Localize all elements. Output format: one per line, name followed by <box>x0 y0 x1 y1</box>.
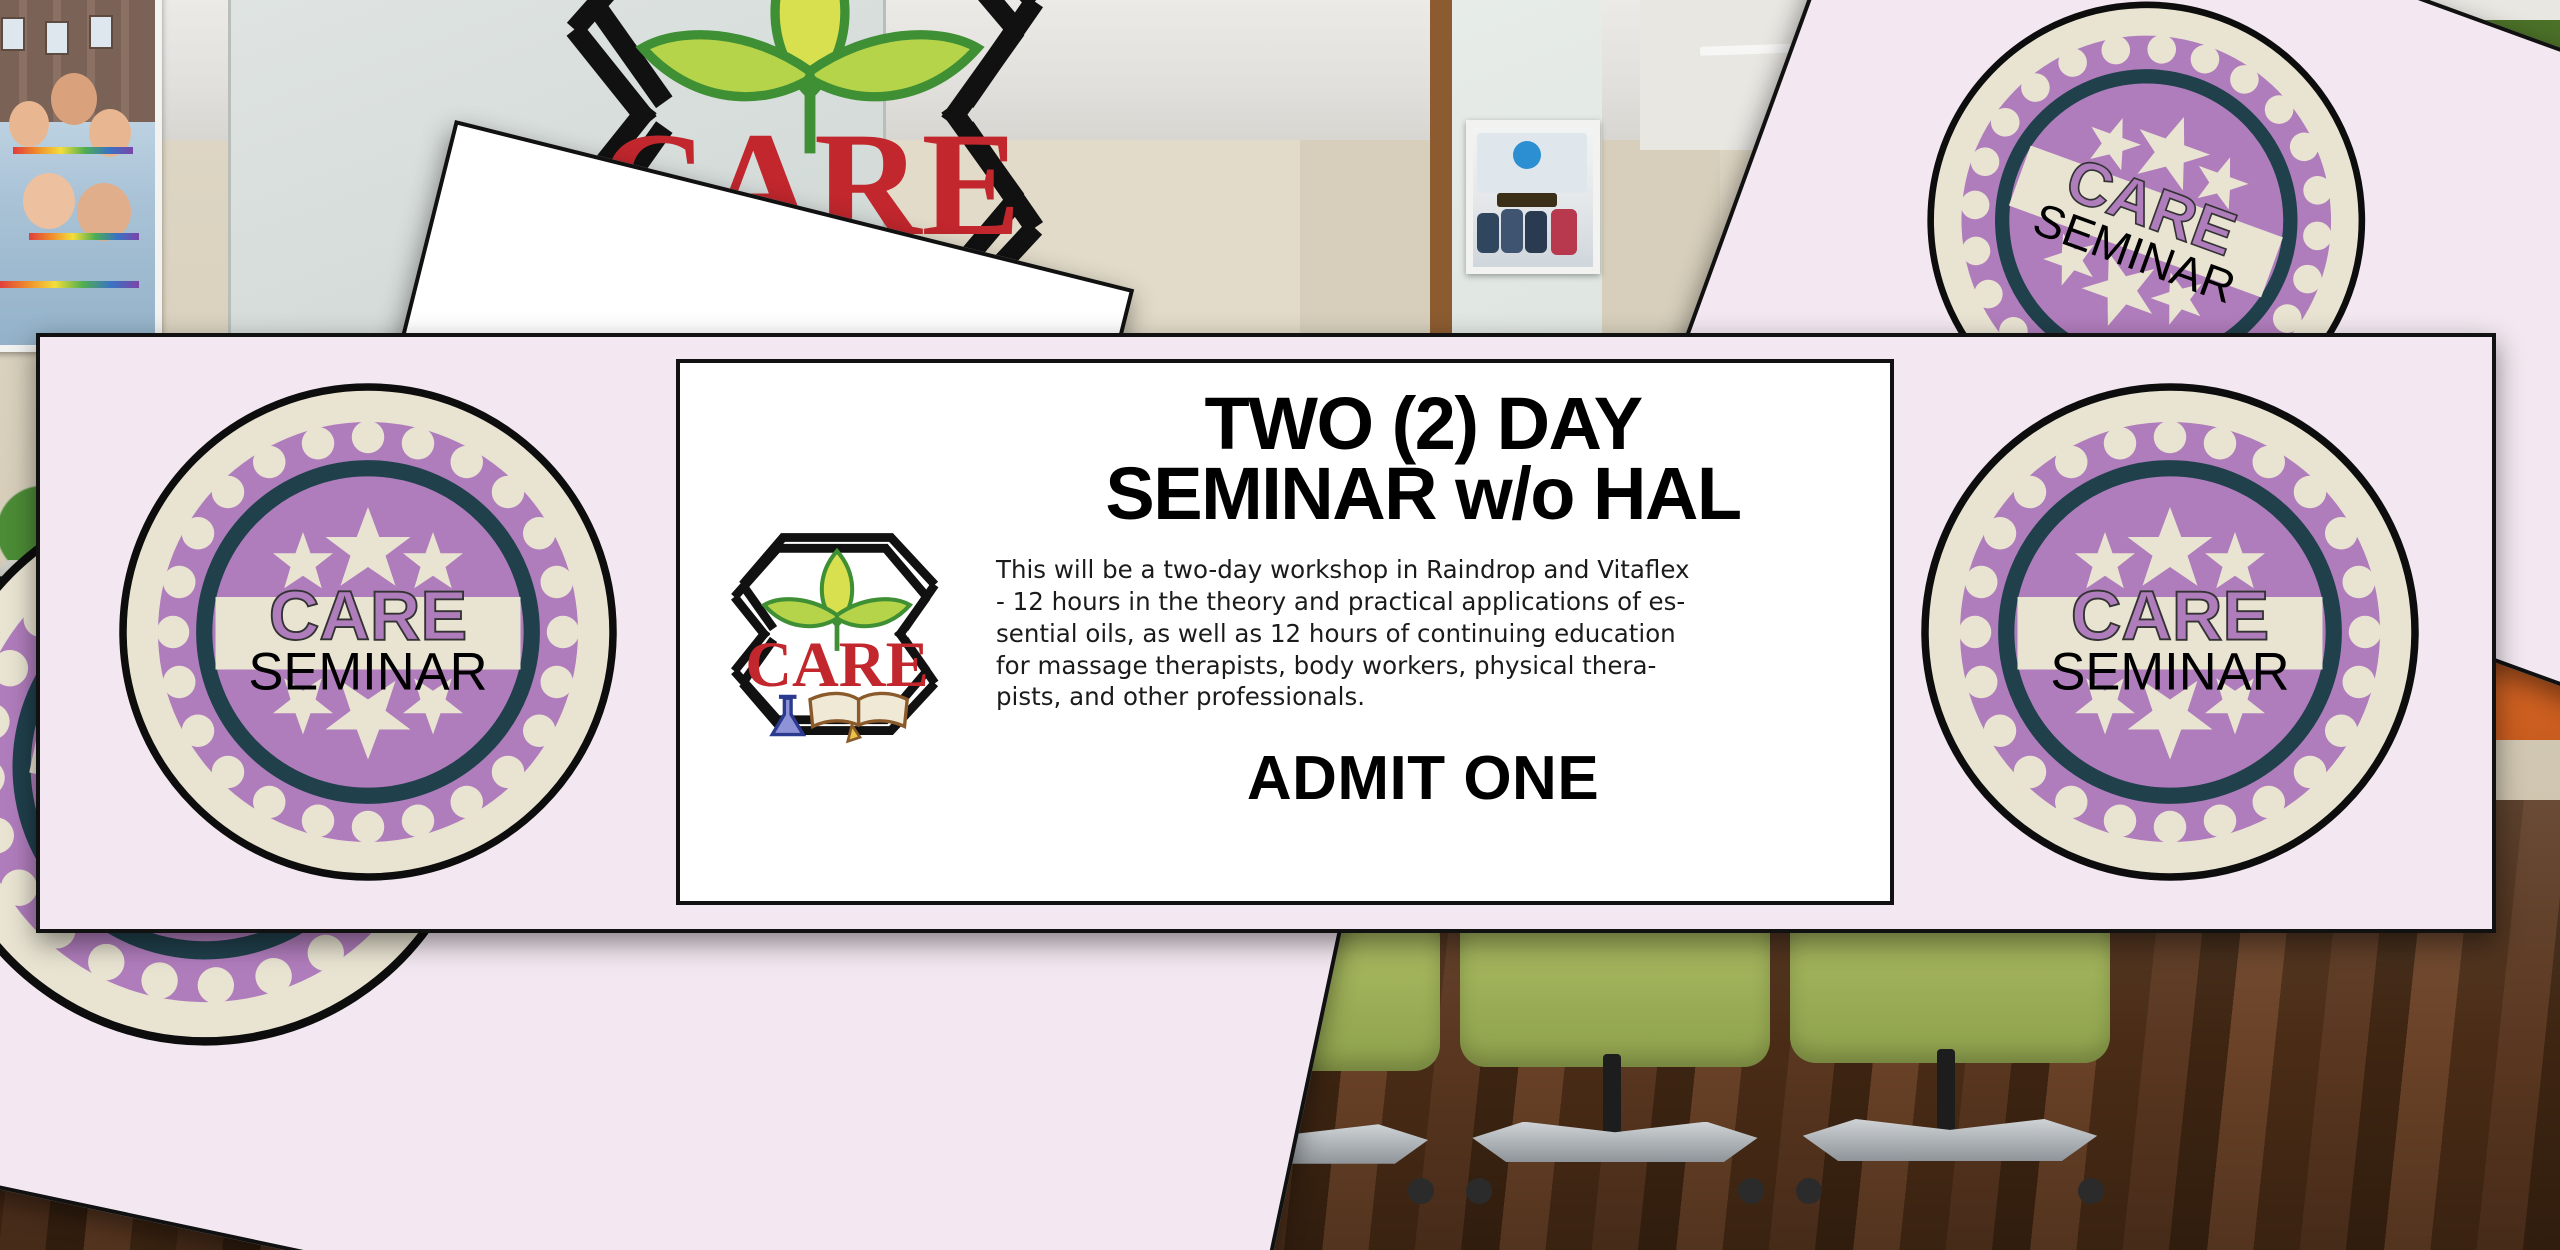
screenshot-stage: CARE <box>0 0 2560 1250</box>
photo-window <box>1 17 25 51</box>
chair-post <box>1937 1049 1955 1133</box>
photo-sign <box>1497 193 1557 207</box>
photo-person <box>1501 209 1523 253</box>
chair-caster <box>1466 1178 1492 1204</box>
blurb-line: - 12 hours in the theory and practical a… <box>996 586 1850 618</box>
ticket-inner-panel: CARE TWO (2) DAY SEMINAR w/o HAL <box>676 359 1894 905</box>
ticket-description: This will be a two-day workshop in Raind… <box>996 554 1850 713</box>
blurb-line: sential oils, as well as 12 hours of con… <box>996 618 1850 650</box>
blurb-line: This will be a two-day workshop in Raind… <box>996 554 1850 586</box>
photo-balloon <box>1513 141 1541 169</box>
rainbow-stripe <box>29 233 139 240</box>
rainbow-stripe <box>13 147 133 154</box>
photo-person <box>9 101 49 147</box>
photo-window <box>89 15 113 49</box>
photo-person <box>51 73 97 125</box>
seal-bottom-text: SEMINAR <box>2050 643 2289 702</box>
care-hexagon-logo: CARE <box>702 482 972 782</box>
care-wordmark: CARE <box>745 629 929 701</box>
chair-caster <box>1738 1178 1764 1204</box>
headline-line-1: TWO (2) DAY <box>990 389 1856 459</box>
rainbow-stripe <box>0 281 139 288</box>
photo-person <box>1477 213 1499 253</box>
admit-one-label: ADMIT ONE <box>990 743 1856 814</box>
framed-photo-team <box>1466 120 1600 274</box>
blurb-line: for massage therapists, body workers, ph… <box>996 650 1850 682</box>
chair-caster <box>1796 1178 1822 1204</box>
photo-window <box>45 21 69 55</box>
blurb-line: pists, and other professionals. <box>996 681 1850 713</box>
chair-caster <box>1408 1178 1434 1204</box>
photo-person <box>1551 209 1577 255</box>
ticket-logo-cell: CARE <box>680 363 980 901</box>
chair-caster <box>2078 1178 2104 1204</box>
chair-post <box>1603 1054 1621 1136</box>
seal-bottom-text: SEMINAR <box>248 643 487 702</box>
main-ticket[interactable]: CARE SEMINAR <box>36 333 2496 933</box>
photo-person <box>1525 211 1547 253</box>
photo-person <box>23 173 75 229</box>
headline-line-2: SEMINAR w/o HAL <box>990 459 1856 529</box>
care-seminar-seal-left: CARE SEMINAR <box>118 382 618 882</box>
care-seminar-seal-right: CARE SEMINAR <box>1920 382 2420 882</box>
ticket-headline: TWO (2) DAY SEMINAR w/o HAL <box>990 389 1856 528</box>
framed-photo-pride <box>0 0 162 352</box>
ticket-text-cell: TWO (2) DAY SEMINAR w/o HAL This will be… <box>980 363 1890 901</box>
